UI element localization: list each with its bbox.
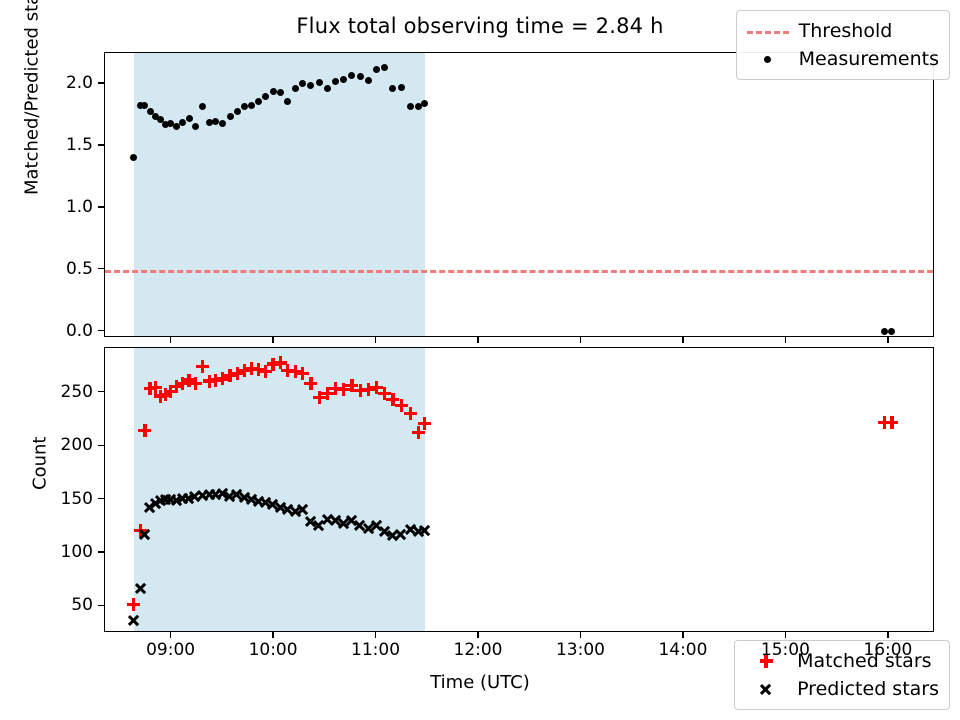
x-tick-label: 12:00 [454, 640, 503, 660]
x-tick-label: 11:00 [351, 640, 400, 660]
top-panel-legend-item[interactable]: Measurements [745, 45, 939, 73]
matched-star-marker [127, 598, 140, 611]
measurement-marker [212, 118, 219, 125]
y-tick-label: 250 [61, 382, 93, 402]
x-tick-mark [785, 632, 786, 638]
y-tick-mark [98, 144, 104, 145]
legend-handle-dashed-line-icon [745, 21, 791, 41]
x-tick-mark [580, 632, 581, 638]
x-tick-label: 14:00 [658, 640, 707, 660]
measurement-marker [888, 328, 895, 335]
top-panel-plot-area [105, 53, 933, 336]
measurement-marker [241, 103, 248, 110]
y-tick-label: 150 [61, 489, 93, 509]
measurement-marker [881, 328, 888, 335]
x-tick-mark [170, 337, 171, 343]
matched-star-marker [189, 377, 202, 390]
y-tick-mark [98, 605, 104, 606]
legend-handle-dot-icon [745, 49, 791, 69]
y-tick-mark [98, 445, 104, 446]
x-tick-label: 13:00 [556, 640, 605, 660]
predicted-star-marker [134, 582, 147, 595]
x-tick-mark [375, 632, 376, 638]
dot-marker-icon [764, 56, 771, 63]
y-tick-mark [98, 498, 104, 499]
predicted-star-marker [296, 503, 309, 516]
measurement-marker [316, 79, 323, 86]
figure-canvas: Flux total observing time = 2.84 h 0.00.… [0, 0, 960, 720]
y-tick-label: 50 [71, 595, 93, 615]
x-tick-mark [272, 337, 273, 343]
measurement-marker [373, 66, 380, 73]
measurement-marker [270, 88, 277, 95]
top-panel-legend[interactable]: ThresholdMeasurements [736, 10, 950, 80]
x-tick-mark [170, 632, 171, 638]
measurement-marker [357, 73, 364, 80]
bottom-panel-axes [104, 347, 934, 632]
x-tick-mark [887, 632, 888, 638]
bottom-panel-plot-area [105, 348, 933, 631]
x-tick-mark [887, 337, 888, 343]
matched-star-marker [196, 360, 209, 373]
measurement-marker [398, 84, 405, 91]
top-panel-legend-item[interactable]: Threshold [745, 17, 939, 45]
y-tick-mark [98, 268, 104, 269]
matched-star-marker [404, 407, 417, 420]
measurement-marker [248, 102, 255, 109]
y-tick-label: 200 [61, 435, 93, 455]
matched-star-marker [304, 377, 317, 390]
y-tick-label: 100 [61, 542, 93, 562]
measurement-marker [255, 98, 262, 105]
measurement-marker [421, 100, 428, 107]
y-tick-mark [98, 551, 104, 552]
top-panel-legend-label: Threshold [799, 20, 893, 42]
predicted-star-marker [127, 614, 140, 627]
measurement-marker [227, 113, 234, 120]
x-tick-label: 09:00 [146, 640, 195, 660]
measurement-marker [234, 108, 241, 115]
measurement-marker [141, 102, 148, 109]
x-tick-mark [682, 337, 683, 343]
x-tick-mark [682, 632, 683, 638]
y-tick-mark [98, 391, 104, 392]
measurement-marker [407, 103, 414, 110]
y-tick-mark [98, 206, 104, 207]
y-tick-mark [98, 82, 104, 83]
measurement-marker [130, 154, 137, 161]
threshold-line-icon [747, 31, 789, 34]
y-tick-label: 0.0 [66, 321, 93, 341]
measurement-marker [199, 103, 206, 110]
y-tick-label: 0.5 [66, 259, 93, 279]
measurement-marker [332, 78, 339, 85]
y-tick-label: 1.5 [66, 135, 93, 155]
x-tick-mark [785, 337, 786, 343]
y-tick-label: 1.0 [66, 197, 93, 217]
x-tick-mark [477, 337, 478, 343]
y-tick-label: 2.0 [66, 73, 93, 93]
x-tick-mark [375, 337, 376, 343]
measurement-marker [192, 123, 199, 130]
predicted-star-marker [138, 528, 151, 541]
matched-star-marker [138, 424, 151, 437]
matched-star-marker [418, 417, 431, 430]
top-panel-axes [104, 52, 934, 337]
x-tick-label: 10:00 [249, 640, 298, 660]
measurement-marker [284, 98, 291, 105]
measurement-marker [340, 76, 347, 83]
x-axis-label: Time (UTC) [0, 672, 960, 693]
x-tick-label: 15:00 [761, 640, 810, 660]
matched-star-marker [885, 416, 898, 429]
threshold-line [105, 270, 933, 273]
measurement-marker [186, 115, 193, 122]
x-tick-mark [477, 632, 478, 638]
top-panel-legend-label: Measurements [799, 48, 939, 70]
predicted-star-marker [418, 524, 431, 537]
x-tick-mark [580, 337, 581, 343]
x-tick-label: 16:00 [863, 640, 912, 660]
y-tick-mark [98, 330, 104, 331]
x-tick-mark [272, 632, 273, 638]
measurement-marker [365, 77, 372, 84]
measurement-marker [277, 89, 284, 96]
